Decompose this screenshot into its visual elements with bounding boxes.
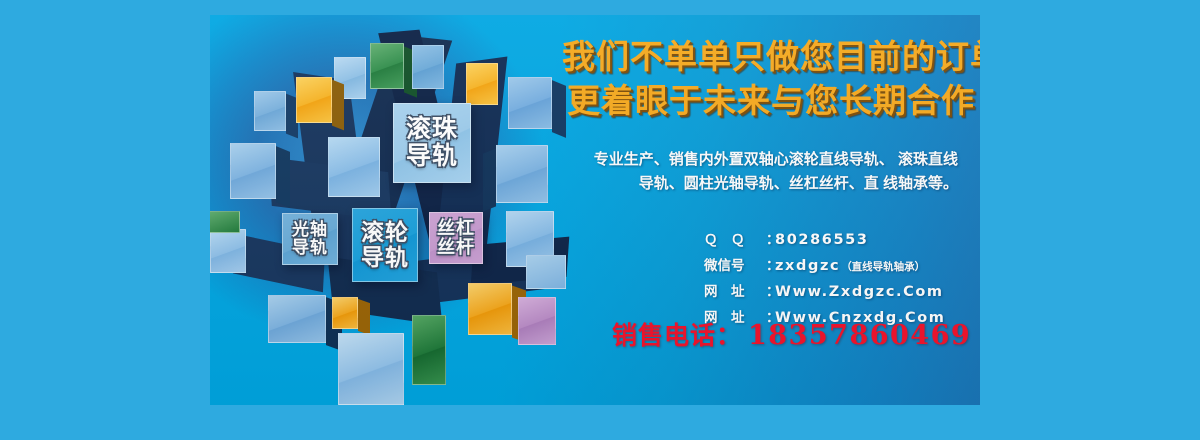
- product-chip-gunzhu-daogui[interactable]: 滚珠 导轨: [393, 103, 471, 183]
- cube: [210, 229, 246, 273]
- cube: [526, 255, 566, 289]
- banner-stage: 滚珠 导轨 光轴 导轨 滚轮 导轨 丝杠 丝杆 我们不单单只做您目前的订单 更着…: [0, 0, 1200, 440]
- contact-sep: ：: [766, 228, 775, 248]
- lead-paragraph: 专业生产、销售内外置双轴心滚轮直线导轨、 滚珠直线导轨、圆柱光轴导轨、丝杠丝杆、…: [590, 148, 958, 197]
- product-chip-gunlun-daogui[interactable]: 滚轮 导轨: [352, 208, 418, 282]
- cube: [412, 315, 446, 385]
- cube: [230, 143, 276, 199]
- contact-label-qq: Ｑ Ｑ: [704, 228, 766, 248]
- product-chip-sigang-sigan[interactable]: 丝杠 丝杆: [429, 212, 483, 264]
- exploding-cubes-artwork: 滚珠 导轨 光轴 导轨 滚轮 导轨 丝杠 丝杆: [210, 15, 580, 405]
- cube: [332, 297, 358, 329]
- cube: [328, 137, 380, 197]
- chip-line-1: 光轴: [292, 221, 328, 239]
- banner-panel: 滚珠 导轨 光轴 导轨 滚轮 导轨 丝杠 丝杆 我们不单单只做您目前的订单 更着…: [210, 15, 980, 405]
- sales-phone-label: 销售电话：: [612, 316, 742, 352]
- sales-phone: 销售电话： 18357860469: [612, 316, 980, 352]
- cube: [338, 333, 404, 405]
- cube: [496, 145, 548, 203]
- lead-line-1: 专业生产、销售内外置双轴心滚轮直线导轨、: [594, 151, 894, 168]
- chip-line-2: 导轨: [292, 239, 328, 257]
- contact-row-website-1: 网 址 ： Www.Zxdgzc.Com: [704, 280, 980, 300]
- chip-line-2: 丝杆: [437, 238, 475, 257]
- cube: [370, 43, 404, 89]
- banner-content: 我们不单单只做您目前的订单 更着眼于未来与您长期合作 专业生产、销售内外置双轴心…: [562, 15, 980, 405]
- contact-label-wechat: 微信号: [704, 254, 766, 274]
- headline-line-1: 我们不单单只做您目前的订单: [562, 35, 980, 79]
- lead-line-3: 线轴承等。: [883, 175, 958, 192]
- chip-line-1: 丝杠: [437, 219, 475, 238]
- contact-value-wechat[interactable]: zxdgzc: [775, 258, 840, 274]
- contact-value-qq[interactable]: 80286553: [775, 232, 869, 248]
- cube: [518, 297, 556, 345]
- sales-phone-number[interactable]: 18357860469: [748, 320, 971, 351]
- cube: [254, 91, 286, 131]
- contact-label-website-1: 网 址: [704, 280, 766, 300]
- cube: [268, 295, 326, 343]
- cube: [412, 45, 444, 89]
- contact-value-website-1[interactable]: Www.Zxdgzc.Com: [775, 284, 944, 300]
- chip-line-2: 导轨: [361, 245, 409, 270]
- contact-sep: ：: [766, 254, 775, 274]
- headline-line-2: 更着眼于未来与您长期合作: [562, 79, 980, 123]
- contact-row-wechat: 微信号 ： zxdgzc （直线导轨轴承）: [704, 254, 980, 274]
- chip-line-2: 导轨: [406, 143, 458, 170]
- contact-row-qq: Ｑ Ｑ ： 80286553: [704, 228, 980, 248]
- cube: [468, 283, 512, 335]
- cube: [296, 77, 332, 123]
- product-chip-guangzhou-daogui[interactable]: 光轴 导轨: [282, 213, 338, 265]
- cube: [210, 211, 240, 233]
- contact-note-wechat: （直线导轨轴承）: [841, 259, 925, 274]
- headline: 我们不单单只做您目前的订单 更着眼于未来与您长期合作: [562, 35, 980, 122]
- cube: [466, 63, 498, 105]
- chip-line-1: 滚轮: [361, 220, 409, 245]
- contact-sep: ：: [766, 280, 775, 300]
- chip-line-1: 滚珠: [406, 116, 458, 143]
- cube: [508, 77, 552, 129]
